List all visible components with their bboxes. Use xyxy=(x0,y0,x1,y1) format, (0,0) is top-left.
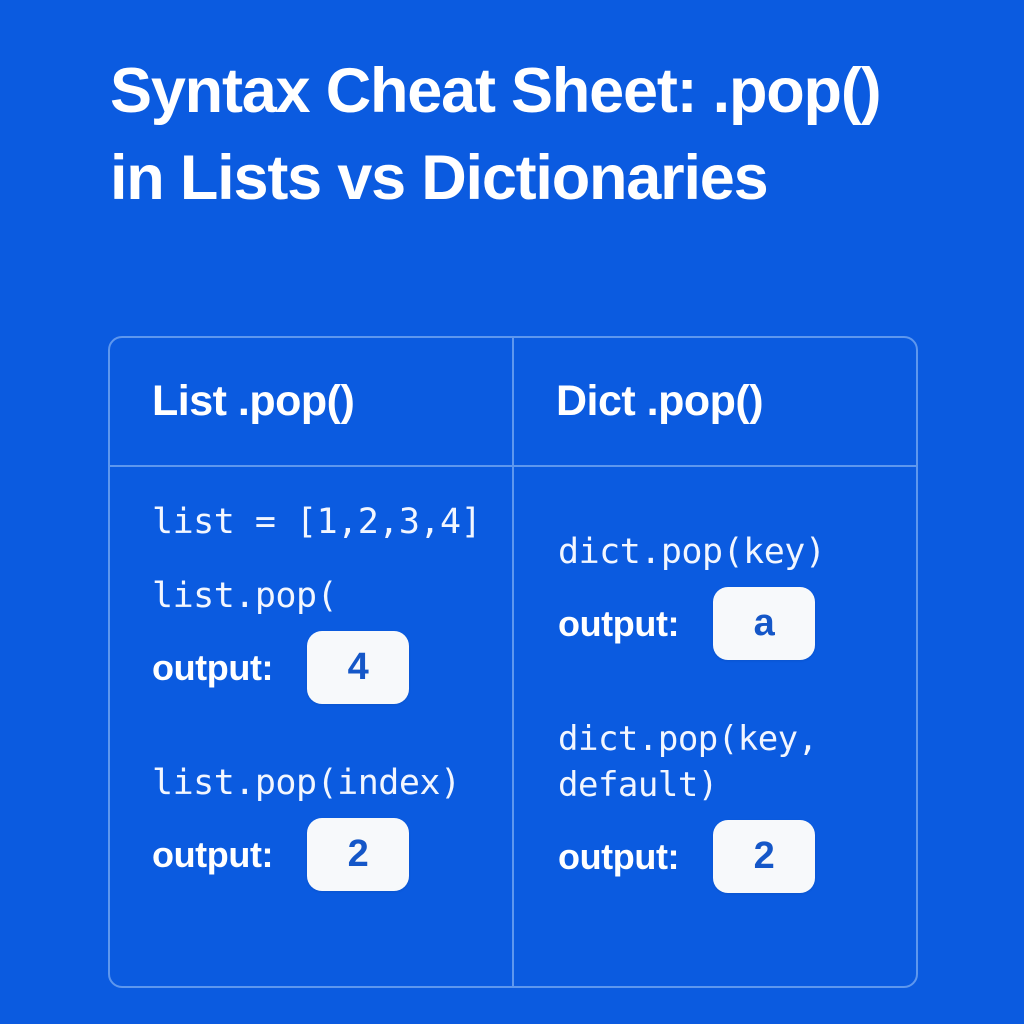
column-header-dict: Dict .pop() xyxy=(514,338,916,465)
table-body-row: list = [1,2,3,4] list.pop( output: 4 lis… xyxy=(110,467,916,986)
column-header-list: List .pop() xyxy=(110,338,514,465)
list-pop-output-row: output: 4 xyxy=(152,631,492,704)
output-badge: 2 xyxy=(713,820,815,893)
dict-pop-key-default-output-row: output: 2 xyxy=(558,820,896,893)
output-label: output: xyxy=(558,603,679,645)
output-badge: a xyxy=(713,587,815,660)
list-pop-index-output-row: output: 2 xyxy=(152,818,492,891)
output-badge: 4 xyxy=(307,631,409,704)
list-pop-index-code: list.pop(index) xyxy=(152,760,492,806)
cell-dict-pop: dict.pop(key) output: a dict.pop(key, de… xyxy=(514,467,916,986)
table-header-row: List .pop() Dict .pop() xyxy=(110,338,916,467)
output-label: output: xyxy=(152,834,273,876)
list-pop-code: list.pop( xyxy=(152,573,492,619)
page-title: Syntax Cheat Sheet: .pop() in Lists vs D… xyxy=(110,48,900,222)
output-label: output: xyxy=(558,836,679,878)
comparison-table: List .pop() Dict .pop() list = [1,2,3,4]… xyxy=(108,336,918,988)
cell-list-pop: list = [1,2,3,4] list.pop( output: 4 lis… xyxy=(110,467,514,986)
dict-pop-key-default-code: dict.pop(key, default) xyxy=(558,716,896,808)
list-declaration-code: list = [1,2,3,4] xyxy=(152,499,492,545)
output-badge: 2 xyxy=(307,818,409,891)
dict-pop-key-output-row: output: a xyxy=(558,587,896,660)
output-label: output: xyxy=(152,647,273,689)
dict-pop-key-code: dict.pop(key) xyxy=(558,529,896,575)
